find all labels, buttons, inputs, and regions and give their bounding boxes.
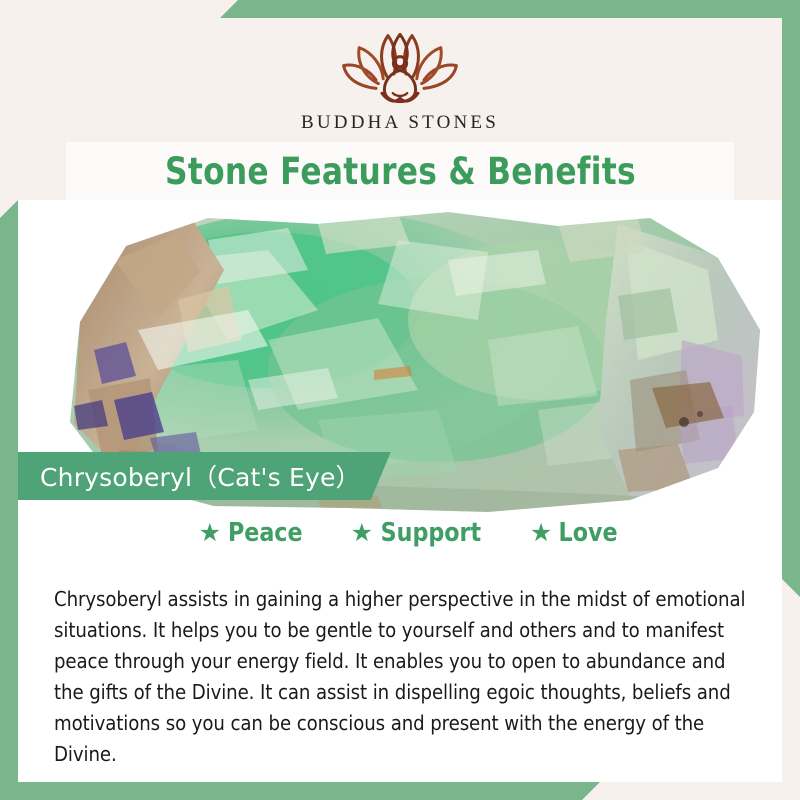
page-title: Stone Features & Benefits — [165, 150, 636, 193]
star-icon: ★ — [530, 521, 552, 546]
title-banner: Stone Features & Benefits — [66, 142, 734, 200]
keyword-label: Love — [559, 518, 618, 548]
frame-bar-right — [782, 0, 800, 597]
frame-bar-left — [0, 200, 18, 800]
stone-name-label: Chrysoberyl（Cat's Eye） — [40, 458, 361, 494]
keyword-item-love: ★ Love — [530, 518, 620, 548]
keyword-item-peace: ★ Peace — [199, 518, 305, 548]
keyword-label: Support — [381, 518, 482, 548]
star-icon: ★ — [351, 521, 373, 546]
lotus-meditating-figure-icon — [340, 26, 460, 110]
keyword-label: Peace — [228, 518, 303, 548]
brand-name: BUDDHA STONES — [301, 112, 499, 134]
frame-bar-top — [220, 0, 800, 18]
stone-description: Chrysoberyl assists in gaining a higher … — [54, 584, 745, 770]
poster-root: BUDDHA STONES Stone Features & Benefits — [0, 0, 800, 800]
keyword-list: ★ Peace ★ Support ★ Love — [18, 518, 782, 548]
content-card: BUDDHA STONES Stone Features & Benefits — [18, 18, 782, 782]
star-icon: ★ — [199, 521, 221, 546]
frame-bar-bottom — [0, 782, 600, 800]
stone-name-banner: Chrysoberyl（Cat's Eye） — [18, 452, 391, 500]
keyword-item-support: ★ Support — [351, 518, 484, 548]
